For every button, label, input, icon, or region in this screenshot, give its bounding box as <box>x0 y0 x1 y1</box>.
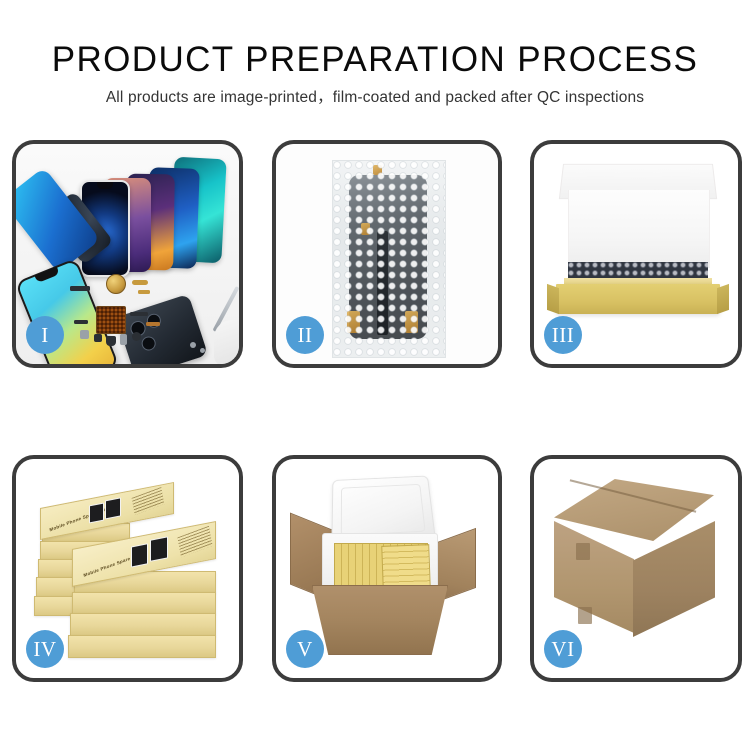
antenna-cable-icon <box>146 322 160 326</box>
process-grid: I II III <box>0 0 750 750</box>
speaker-module-icon <box>106 274 126 294</box>
panel-badge-2: II <box>286 316 324 354</box>
vibrator-motor-icon <box>106 336 116 346</box>
chip-icon <box>94 334 102 342</box>
panel-badge-4: IV <box>26 630 64 668</box>
label-text-lines <box>177 526 212 558</box>
panel-products-and-spare-parts[interactable]: I <box>12 140 243 368</box>
carton-body-icon <box>312 585 448 655</box>
flex-cable-icon <box>130 312 148 316</box>
panel-stacked-retail-boxes[interactable]: Mobile Phone Spare Parts Mobile Phone Sp… <box>12 455 243 682</box>
panel-badge-6: VI <box>544 630 582 668</box>
carton-tape-patch <box>578 607 592 624</box>
flex-cable-icon <box>138 290 150 294</box>
label-text-lines <box>132 487 165 515</box>
yellow-packages-icon <box>381 544 431 590</box>
product-photo-swatch <box>105 497 121 519</box>
screw-icon <box>200 348 205 353</box>
panel-sealed-carton[interactable]: VI <box>530 455 742 682</box>
carton-tape-patch <box>576 543 590 560</box>
flex-cable-icon <box>132 280 148 285</box>
retail-box-icon <box>72 592 216 614</box>
panel-open-mailer-box[interactable]: III <box>530 140 742 368</box>
button-icon <box>132 332 141 341</box>
panel-badge-1: I <box>26 316 64 354</box>
panel-foam-lined-carton[interactable]: V <box>272 455 502 682</box>
bubble-wrap-bag-icon <box>332 160 446 358</box>
part-strip-icon <box>74 320 88 324</box>
product-photo-swatch <box>131 543 148 567</box>
product-photo-swatch <box>150 536 168 561</box>
sim-tray-icon <box>120 334 127 345</box>
product-photo-swatch <box>89 503 104 524</box>
hand-icon <box>214 320 239 364</box>
box-front-wall-icon <box>556 284 720 314</box>
connector-array-icon <box>96 306 126 334</box>
panel-bubble-wrapped-screen[interactable]: II <box>272 140 502 368</box>
retail-box-icon <box>70 613 216 636</box>
screw-icon <box>80 330 89 339</box>
panel-badge-5: V <box>286 630 324 668</box>
box-inner-wall <box>568 190 710 268</box>
screw-icon <box>190 342 196 348</box>
bubble-texture <box>333 161 445 357</box>
part-strip-icon <box>70 286 90 291</box>
retail-box-icon <box>68 635 216 658</box>
panel-badge-3: III <box>544 316 582 354</box>
